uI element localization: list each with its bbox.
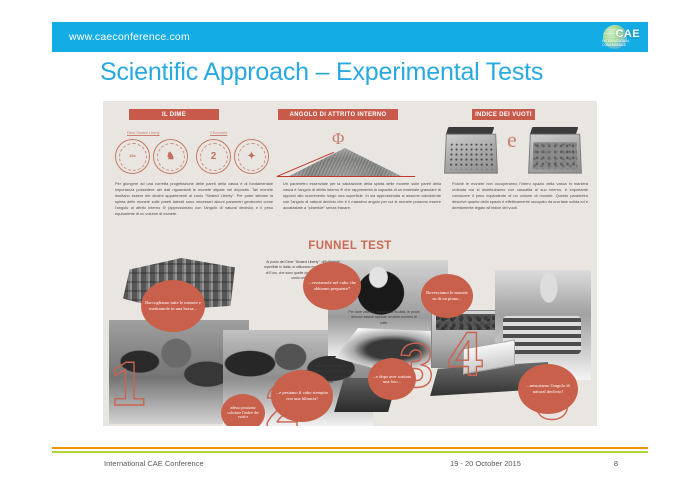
speech-bubble-after-photo: ...e dopo aver scattato una foto... [368,358,416,400]
speech-bubble-step-5: ...misuriamo l'angolo di natural declivi… [518,364,578,414]
coin-eurocent-reverse-icon: ✦ [234,139,269,174]
coin-illustrations: 10c ♞ 2 ✦ [113,139,275,175]
slide: www.caeconference.com CAE INTERNATIONAL … [0,0,700,494]
top-bar: www.caeconference.com CAE INTERNATIONAL … [52,22,648,52]
coin-pile-shape [289,148,401,176]
void-index-illustration: e [443,127,593,179]
cae-logo-subtext: INTERNATIONAL CONFERENCE [602,39,639,47]
section-badge-il-dime: IL DIME [129,109,219,120]
step-number-1: 1 [111,354,145,416]
e-symbol-icon: e [507,127,517,153]
section-badge-angolo-attrito: ANGOLO DI ATTRITO INTERNO [278,109,398,120]
footer-date: 19 - 20 October 2015 [450,459,521,468]
paragraph-indice-vuoti: Poiché le monete non occuperanno l'inter… [452,181,588,211]
footer-page-number: 8 [614,459,618,468]
speech-bubble-step-1: Raccogliamo tutte le monete e mettiamole… [141,280,205,332]
speech-bubble-step-3: ...versiamole nel cubo che abbiamo prepa… [303,262,361,310]
paragraph-il-dime: Per giungere ad una corretta progettazio… [115,181,273,217]
funnel-test-title: FUNNEL TEST [103,240,597,252]
coin-dime-reverse-icon: ♞ [153,139,188,174]
caption-statistical-note: Per dare valenza statistica ai risultati… [348,310,420,326]
coin-eurocent-obverse-icon: 2 [196,139,231,174]
page-title: Scientific Approach – Experimental Tests [100,58,640,87]
speech-bubble-weigh-cube: ...e pesiamo il cubo riempito con una bi… [271,370,333,422]
cae-logo[interactable]: CAE INTERNATIONAL CONFERENCE [602,24,642,50]
speech-bubble-step-4: Rovesciamo le monete su di un piano... [421,274,473,318]
footer-conference-name: International CAE Conference [104,459,204,468]
coin-cone-illustration [271,145,421,179]
infographic-panel: IL DIME ANGOLO DI ATTRITO INTERNO INDICE… [103,101,597,426]
speech-bubble-void-index: adesso possiamo calcolare l'indice dei v… [221,394,265,426]
step-number-4: 4 [448,324,482,386]
footer-rule-green [52,451,648,453]
conference-url[interactable]: www.caeconference.com [69,31,190,43]
footer-rule-orange [52,447,648,449]
paragraph-angolo-attrito: Un parametro essenziale per la valutazio… [283,181,441,211]
cone-baseline [277,176,415,177]
footer: International CAE Conference 19 - 20 Oct… [52,456,648,470]
box-random-coins [528,134,582,174]
coin-dime-obverse-icon: 10c [115,139,150,174]
coin-label-dime: Dime Seated Liberty [127,131,160,135]
funnel-test-collage: Al posto del Dime "Seated Liberty", diff… [103,258,597,426]
box-ordered-coins [444,134,498,174]
section-badge-indice-vuoti: INDICE DEI VUOTI [472,109,535,120]
coin-label-eurocent: 2 Eurocent [210,131,227,135]
